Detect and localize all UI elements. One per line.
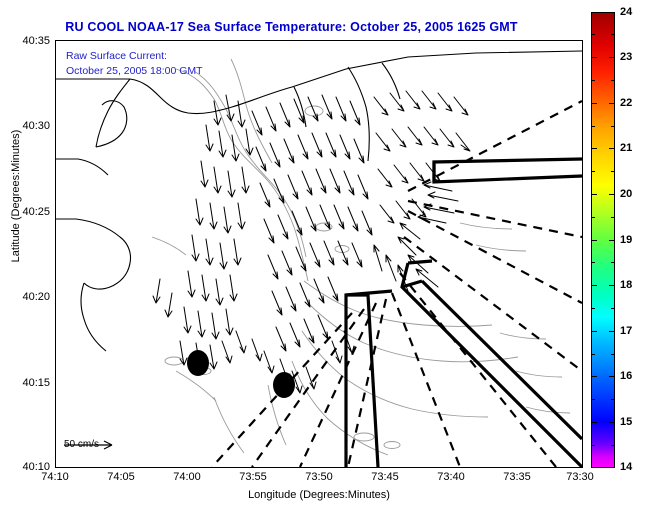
colorbar-tick-label: 15	[620, 416, 632, 428]
annotation-block: Raw Surface Current: October 25, 2005 18…	[66, 49, 203, 79]
x-axis-title: Longitude (Degrees:Minutes)	[55, 489, 583, 501]
right-arrow-icon	[62, 439, 122, 451]
radar-station-markers	[187, 350, 295, 398]
station-marker	[187, 350, 209, 376]
colorbar-tick-label: 19	[620, 234, 632, 246]
xtick-label: 73:30	[566, 471, 594, 483]
colorbar-tick-label: 17	[620, 325, 632, 337]
ytick-label: 40:35	[22, 35, 50, 47]
xtick-label: 73:35	[503, 471, 531, 483]
colorbar-tick-label: 18	[620, 279, 632, 291]
xtick-label: 73:50	[305, 471, 333, 483]
ytick-label: 40:25	[22, 206, 50, 218]
map-graphics	[56, 41, 582, 467]
ytick-label: 40:15	[22, 377, 50, 389]
colorbar-tick-label: 24	[620, 6, 632, 18]
colorbar-tick-label: 21	[620, 142, 632, 154]
ytick-label: 40:30	[22, 120, 50, 132]
annotation-line-2: October 25, 2005 18:00 GMT	[66, 64, 203, 79]
colorbar-tick-label: 14	[620, 461, 632, 473]
bathymetry-contours	[152, 59, 570, 455]
figure-title: RU COOL NOAA-17 Sea Surface Temperature:…	[0, 20, 583, 34]
xtick-label: 73:45	[371, 471, 399, 483]
surface-current-vectors	[153, 91, 470, 393]
xtick-label: 73:55	[239, 471, 267, 483]
map-canvas: Raw Surface Current: October 25, 2005 18…	[56, 41, 582, 467]
colorbar-tick-label: 23	[620, 51, 632, 63]
xtick-label: 73:40	[437, 471, 465, 483]
ytick-label: 40:20	[22, 291, 50, 303]
ytick-label: 40:10	[22, 461, 50, 473]
coastline	[56, 51, 582, 351]
xtick-label: 74:00	[173, 471, 201, 483]
xtick-label: 74:05	[107, 471, 135, 483]
colorbar-tick-label: 20	[620, 188, 632, 200]
sst-current-map-figure: RU COOL NOAA-17 Sea Surface Temperature:…	[0, 0, 651, 519]
map-plot-area: Raw Surface Current: October 25, 2005 18…	[55, 40, 583, 468]
station-marker	[273, 372, 295, 398]
colorbar-tick-label: 22	[620, 97, 632, 109]
vector-scale-legend: 50 cm/s	[62, 439, 99, 451]
radar-sector-solid	[346, 159, 582, 467]
y-axis-title: Latitude (Degrees:Minutes)	[10, 96, 22, 296]
annotation-line-1: Raw Surface Current:	[66, 49, 203, 64]
colorbar-tick-label: 16	[620, 370, 632, 382]
